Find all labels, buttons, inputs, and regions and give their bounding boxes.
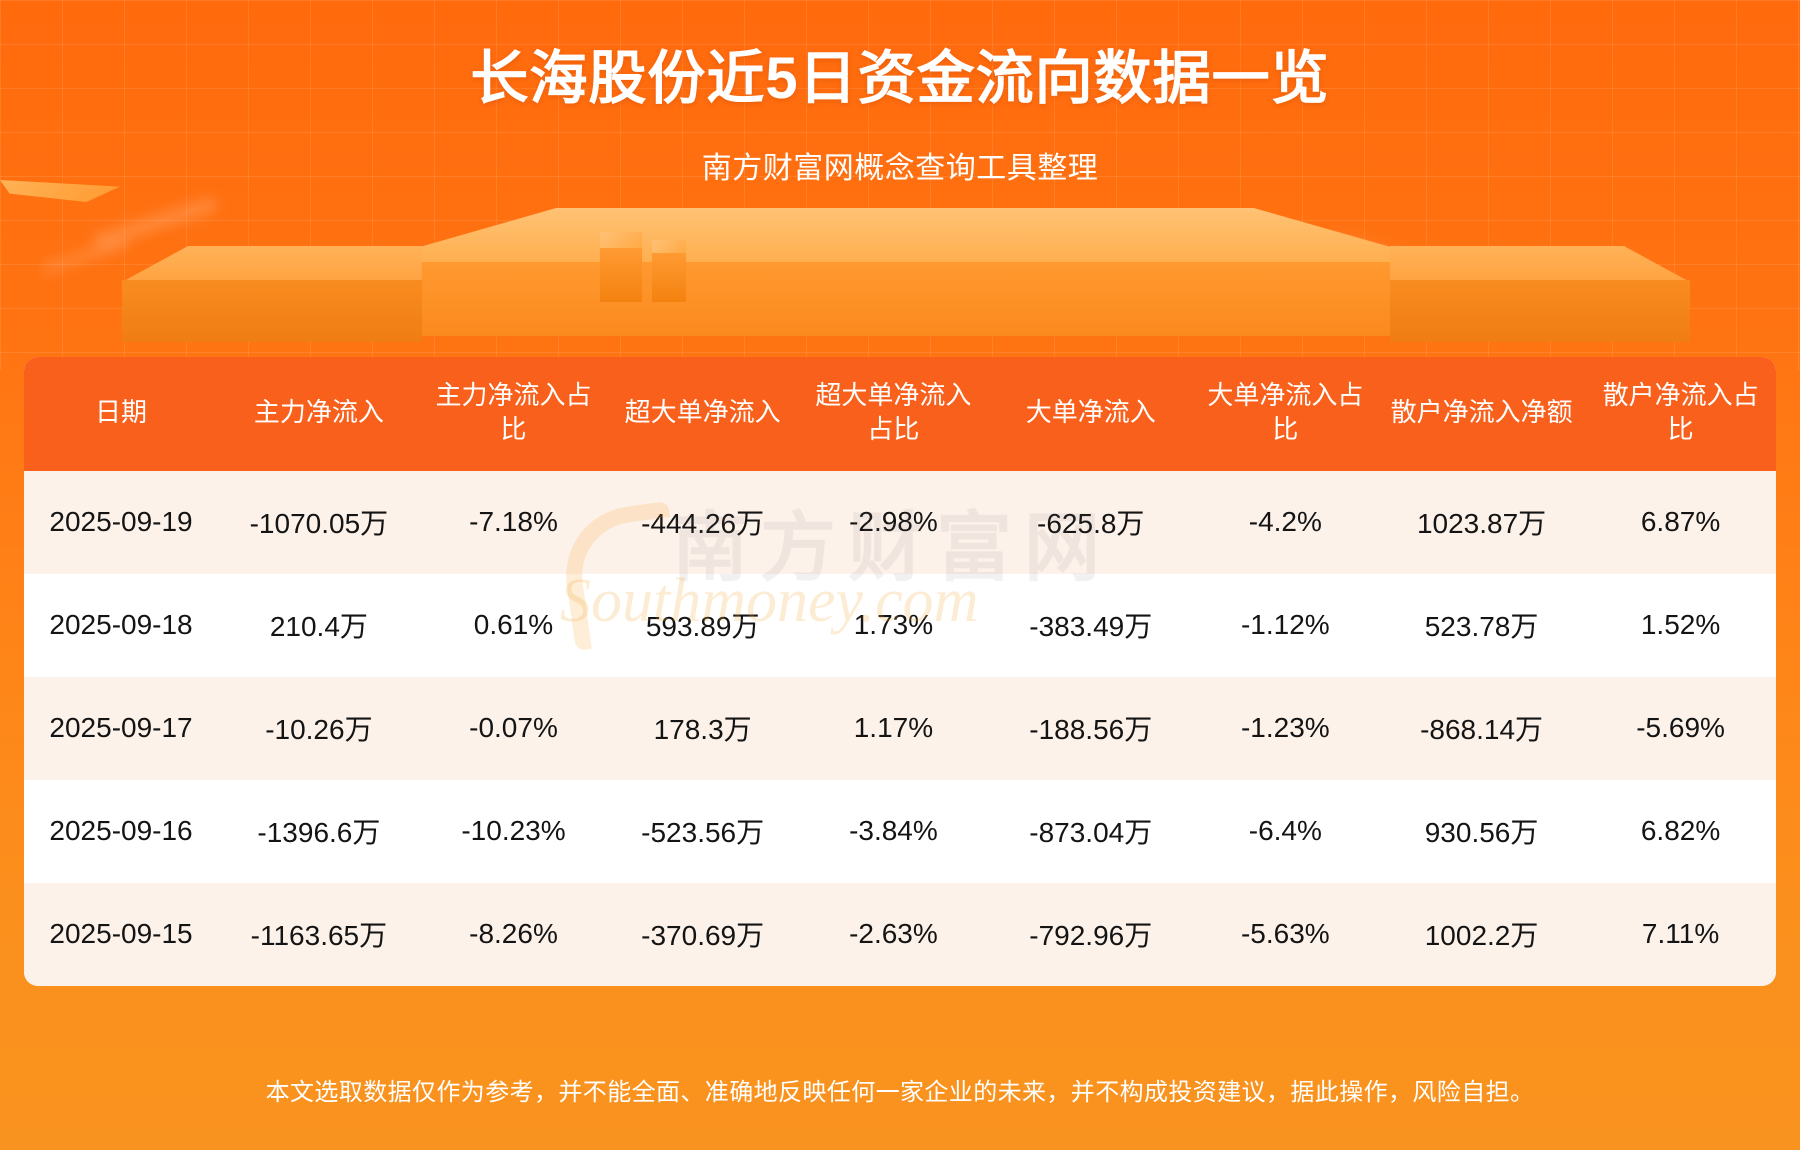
table-row[interactable]: 2025-09-19 -1070.05万 -7.18% -444.26万 -2.… <box>24 471 1776 574</box>
cell-super-pct: -3.84% <box>798 780 989 883</box>
podium-cube-small <box>652 240 686 302</box>
cell-super-pct: -2.63% <box>798 883 989 986</box>
cell-super-net: 178.3万 <box>607 677 798 780</box>
cell-main-net: -10.26万 <box>218 677 420 780</box>
column-header-date[interactable]: 日期 <box>24 357 218 471</box>
cell-main-pct: -7.18% <box>420 471 608 574</box>
disclaimer-text: 本文选取数据仅作为参考，并不能全面、准确地反映任何一家企业的未来，并不构成投资建… <box>266 1079 1535 1106</box>
cell-main-pct: -8.26% <box>420 883 608 986</box>
cell-retail-net: 523.78万 <box>1378 574 1585 677</box>
podium-center-top <box>360 208 1450 264</box>
cell-big-net: -873.04万 <box>989 780 1193 883</box>
page-title: 长海股份近5日资金流向数据一览 <box>0 0 1800 115</box>
cell-super-net: -444.26万 <box>607 471 798 574</box>
cell-retail-net: 1002.2万 <box>1378 883 1585 986</box>
table-header: 日期 主力净流入 主力净流入占比 超大单净流入 超大单净流入占比 大单净流入 大… <box>24 357 1776 471</box>
cell-big-pct: -1.23% <box>1193 677 1378 780</box>
cell-date: 2025-09-15 <box>24 883 218 986</box>
cell-retail-pct: 6.82% <box>1585 780 1776 883</box>
table-row[interactable]: 2025-09-18 210.4万 0.61% 593.89万 1.73% -3… <box>24 574 1776 677</box>
podium-right-top <box>1390 246 1690 282</box>
cell-super-net: -523.56万 <box>607 780 798 883</box>
podium-illustration <box>0 180 1800 360</box>
cell-big-net: -383.49万 <box>989 574 1193 677</box>
footer-section: 本文选取数据仅作为参考，并不能全面、准确地反映任何一家企业的未来，并不构成投资建… <box>0 1072 1800 1107</box>
cell-big-pct: -6.4% <box>1193 780 1378 883</box>
hero-section: 长海股份近5日资金流向数据一览 南方财富网概念查询工具整理 <box>0 0 1800 187</box>
cell-big-pct: -1.12% <box>1193 574 1378 677</box>
podium-left-face <box>122 280 422 342</box>
cell-retail-pct: 1.52% <box>1585 574 1776 677</box>
cell-retail-net: 930.56万 <box>1378 780 1585 883</box>
podium-center-face <box>360 262 1450 336</box>
cell-retail-net: -868.14万 <box>1378 677 1585 780</box>
table-row[interactable]: 2025-09-16 -1396.6万 -10.23% -523.56万 -3.… <box>24 780 1776 883</box>
column-header-big-net[interactable]: 大单净流入 <box>989 357 1193 471</box>
cell-retail-pct: 6.87% <box>1585 471 1776 574</box>
cell-main-pct: -0.07% <box>420 677 608 780</box>
cell-super-pct: 1.17% <box>798 677 989 780</box>
table-row[interactable]: 2025-09-17 -10.26万 -0.07% 178.3万 1.17% -… <box>24 677 1776 780</box>
cell-main-net: -1163.65万 <box>218 883 420 986</box>
page-subtitle: 南方财富网概念查询工具整理 <box>0 115 1800 187</box>
cell-big-net: -625.8万 <box>989 471 1193 574</box>
poster-canvas: 长海股份近5日资金流向数据一览 南方财富网概念查询工具整理 日期 主力净流入 主… <box>0 0 1800 1150</box>
cell-big-net: -792.96万 <box>989 883 1193 986</box>
cell-main-pct: 0.61% <box>420 574 608 677</box>
cell-super-net: 593.89万 <box>607 574 798 677</box>
cell-super-pct: 1.73% <box>798 574 989 677</box>
cell-retail-pct: 7.11% <box>1585 883 1776 986</box>
cell-retail-net: 1023.87万 <box>1378 471 1585 574</box>
cell-super-pct: -2.98% <box>798 471 989 574</box>
column-header-main-net[interactable]: 主力净流入 <box>218 357 420 471</box>
cell-big-pct: -5.63% <box>1193 883 1378 986</box>
podium-right-face <box>1390 280 1690 342</box>
table-header-row: 日期 主力净流入 主力净流入占比 超大单净流入 超大单净流入占比 大单净流入 大… <box>24 357 1776 471</box>
column-header-retail-net[interactable]: 散户净流入净额 <box>1378 357 1585 471</box>
column-header-super-net[interactable]: 超大单净流入 <box>607 357 798 471</box>
cell-date: 2025-09-17 <box>24 677 218 780</box>
column-header-main-pct[interactable]: 主力净流入占比 <box>420 357 608 471</box>
cell-big-net: -188.56万 <box>989 677 1193 780</box>
cell-date: 2025-09-18 <box>24 574 218 677</box>
cell-date: 2025-09-16 <box>24 780 218 883</box>
cell-super-net: -370.69万 <box>607 883 798 986</box>
cell-date: 2025-09-19 <box>24 471 218 574</box>
data-table-card: 日期 主力净流入 主力净流入占比 超大单净流入 超大单净流入占比 大单净流入 大… <box>24 357 1776 986</box>
fund-flow-table: 日期 主力净流入 主力净流入占比 超大单净流入 超大单净流入占比 大单净流入 大… <box>24 357 1776 986</box>
cell-main-net: -1070.05万 <box>218 471 420 574</box>
podium-left-top <box>122 246 422 282</box>
table-body: 2025-09-19 -1070.05万 -7.18% -444.26万 -2.… <box>24 471 1776 986</box>
column-header-retail-pct[interactable]: 散户净流入占比 <box>1585 357 1776 471</box>
table-row[interactable]: 2025-09-15 -1163.65万 -8.26% -370.69万 -2.… <box>24 883 1776 986</box>
column-header-super-pct[interactable]: 超大单净流入占比 <box>798 357 989 471</box>
cell-main-pct: -10.23% <box>420 780 608 883</box>
cell-main-net: -1396.6万 <box>218 780 420 883</box>
cell-main-net: 210.4万 <box>218 574 420 677</box>
podium-cube-small <box>600 232 642 302</box>
cell-big-pct: -4.2% <box>1193 471 1378 574</box>
cell-retail-pct: -5.69% <box>1585 677 1776 780</box>
column-header-big-pct[interactable]: 大单净流入占比 <box>1193 357 1378 471</box>
